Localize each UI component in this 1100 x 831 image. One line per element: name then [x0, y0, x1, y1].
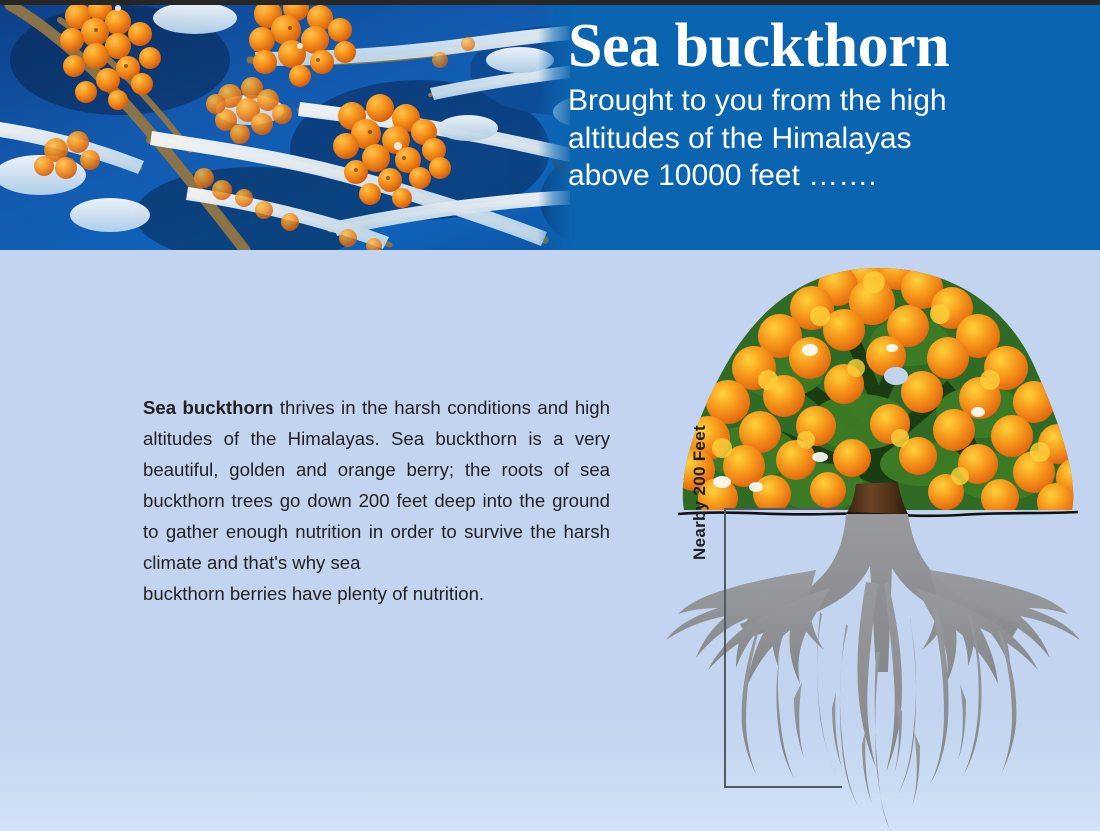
body-paragraph: Sea buckthorn thrives in the harsh condi… [143, 392, 610, 609]
hero-subtitle-line-3: above 10000 feet ……. [568, 157, 1088, 195]
bracket-top-arm [724, 508, 842, 510]
body-paragraph-last-line: buckthorn berries have plenty of nutriti… [143, 578, 610, 609]
hero-subtitle-line-2: altitudes of the Himalayas [568, 120, 1088, 158]
bracket-bottom-arm [724, 786, 842, 788]
hero-band-fade [538, 0, 572, 250]
bracket-vertical [724, 508, 726, 788]
top-rule [0, 0, 1100, 5]
page-title: Sea buckthorn [568, 14, 1088, 80]
body-paragraph-rest: thrives in the harsh conditions and high… [143, 397, 610, 573]
hero-subtitle-line-1: Brought to you from the high [568, 82, 1088, 120]
depth-bracket [724, 508, 844, 788]
depth-label: Nearby 200 Feet [690, 425, 710, 560]
poster-page: Sea buckthorn Brought to you from the hi… [0, 0, 1100, 831]
body-lead-bold: Sea buckthorn [143, 397, 273, 418]
hero-text-block: Sea buckthorn Brought to you from the hi… [568, 14, 1088, 195]
